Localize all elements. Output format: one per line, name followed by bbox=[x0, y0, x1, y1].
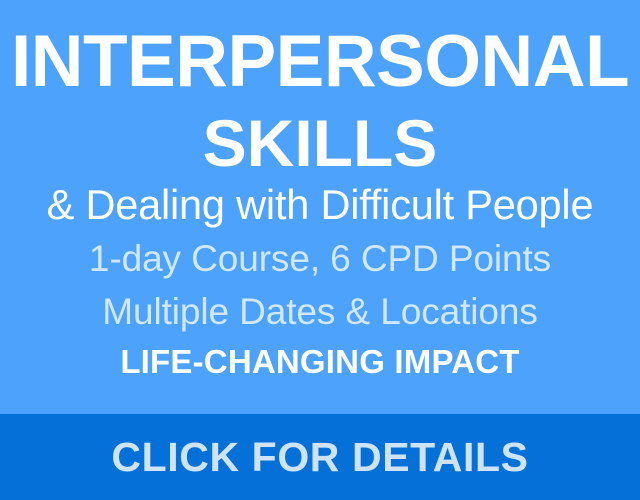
banner-tagline: LIFE-CHANGING IMPACT bbox=[0, 338, 640, 386]
banner-copy-block: INTERPERSONAL SKILLS & Dealing with Diff… bbox=[0, 0, 640, 414]
headline-primary: INTERPERSONAL bbox=[0, 16, 640, 108]
banner-detail-course: 1-day Course, 6 CPD Points bbox=[0, 232, 640, 285]
cta-label: CLICK FOR DETAILS bbox=[111, 437, 528, 478]
banner-detail-dates: Multiple Dates & Locations bbox=[0, 285, 640, 338]
click-for-details-button[interactable]: CLICK FOR DETAILS bbox=[0, 414, 640, 500]
advertisement-banner[interactable]: INTERPERSONAL SKILLS & Dealing with Diff… bbox=[0, 0, 640, 500]
banner-subheadline: & Dealing with Difficult People bbox=[0, 178, 640, 232]
headline-secondary: SKILLS bbox=[0, 108, 640, 178]
